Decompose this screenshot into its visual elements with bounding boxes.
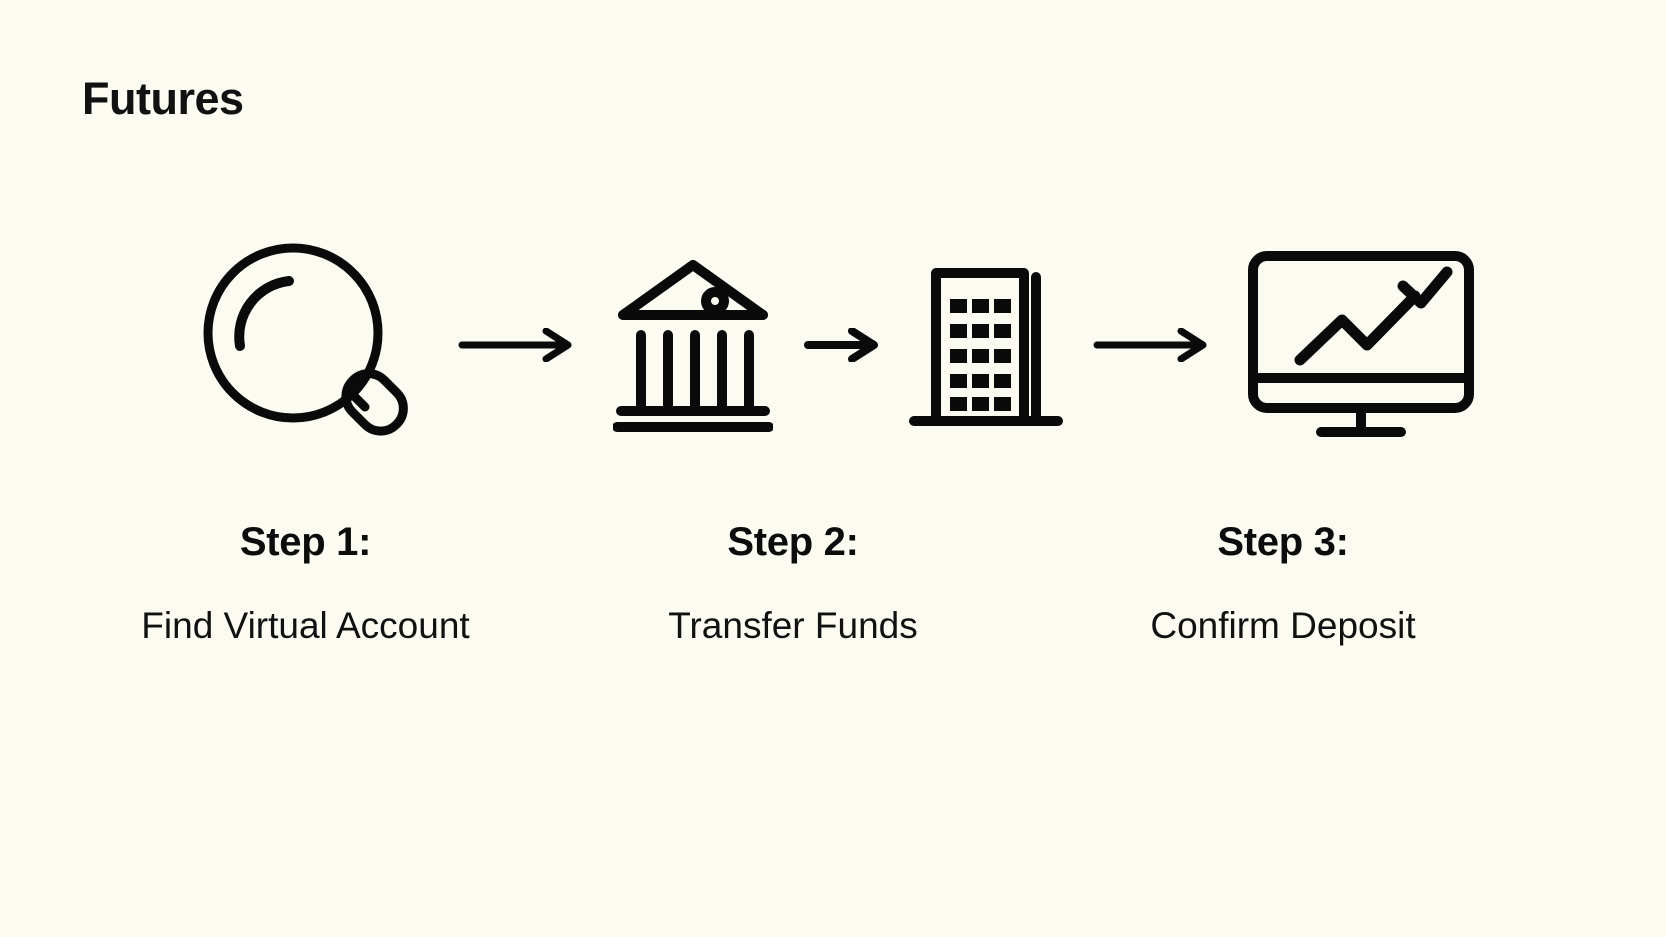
- step-labels: Step 1: Find Virtual Account Step 2: Tra…: [0, 520, 1666, 647]
- step-3-description: Confirm Deposit: [1003, 606, 1563, 647]
- bank-icon: [598, 253, 788, 438]
- office-building-icon: [898, 255, 1073, 435]
- step-3-heading: Step 3:: [1003, 520, 1563, 564]
- arrow-1: [438, 328, 598, 362]
- process-flow: [0, 225, 1666, 465]
- monitor-chart-check-icon: [1233, 248, 1488, 443]
- step-2-description: Transfer Funds: [583, 606, 1003, 647]
- page-title: Futures: [82, 76, 244, 121]
- step-1-description: Find Virtual Account: [28, 606, 583, 647]
- step-2-heading: Step 2:: [583, 520, 1003, 564]
- magnifier-icon: [178, 238, 438, 453]
- step-2-column: Step 2: Transfer Funds: [583, 520, 1003, 647]
- arrow-3: [1073, 328, 1233, 362]
- slide-canvas: Futures: [0, 0, 1666, 937]
- step-1-column: Step 1: Find Virtual Account: [28, 520, 583, 647]
- step-3-column: Step 3: Confirm Deposit: [1003, 520, 1563, 647]
- arrow-2: [788, 328, 898, 362]
- step-1-heading: Step 1:: [28, 520, 583, 564]
